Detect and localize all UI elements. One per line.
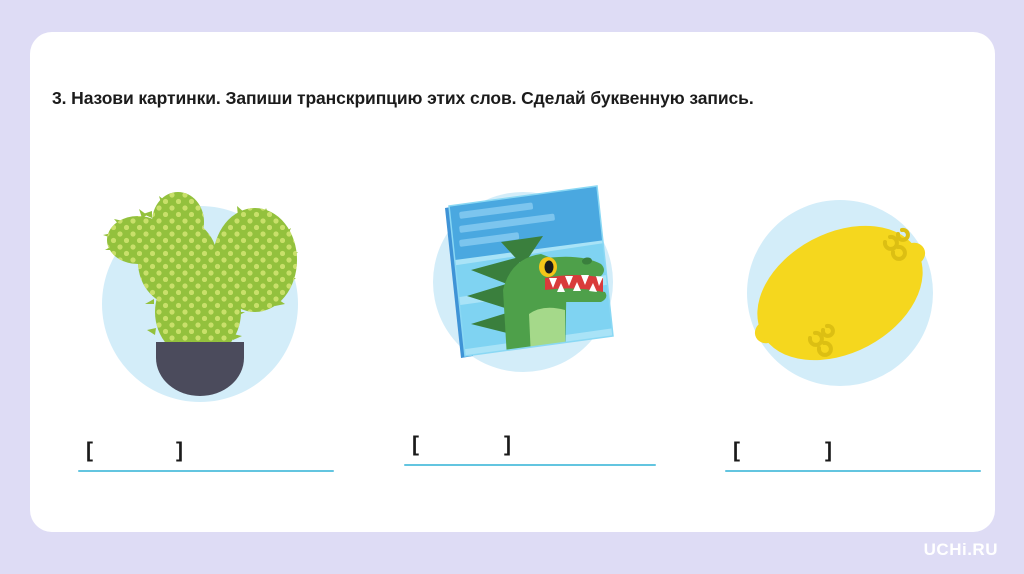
close-bracket: ]: [176, 440, 183, 462]
open-bracket: [: [86, 440, 93, 462]
picture-cactus: [90, 178, 320, 403]
open-bracket: [: [733, 440, 740, 462]
answer-row[interactable]: [ ]: [725, 440, 981, 486]
book-with-dragon-icon: [415, 178, 645, 403]
answer-row[interactable]: [ ]: [78, 440, 334, 486]
answer-write-line[interactable]: [78, 470, 334, 472]
task-title: 3. Назови картинки. Запиши транскрипцию …: [52, 88, 992, 109]
cactus-icon: [90, 178, 320, 403]
close-bracket: ]: [825, 440, 832, 462]
picture-book-dragon: [415, 178, 645, 403]
close-bracket: ]: [504, 434, 511, 456]
lemon-icon: [735, 178, 965, 403]
open-bracket: [: [412, 434, 419, 456]
slide-canvas: 3. Назови картинки. Запиши транскрипцию …: [0, 0, 1024, 574]
watermark-logo: UCHi.RU: [924, 540, 998, 560]
answer-row[interactable]: [ ]: [404, 434, 656, 480]
answer-write-line[interactable]: [725, 470, 981, 472]
answer-write-line[interactable]: [404, 464, 656, 466]
picture-lemon: [735, 178, 965, 403]
